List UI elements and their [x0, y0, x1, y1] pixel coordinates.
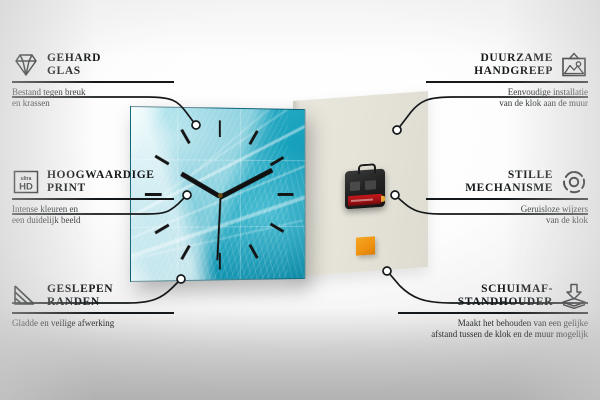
feature-underline [12, 312, 174, 314]
feature-title-line1: STILLE [465, 169, 553, 182]
product-infographic: GEHARD GLAS Bestand tegen breuk en krass… [0, 0, 600, 400]
gear-icon [560, 169, 588, 195]
feature-sub-line1: Geruisloze wijzers [426, 204, 588, 216]
feature-title-line1: HOOGWAARDIGE [47, 169, 155, 182]
feature-title-line2: PRINT [47, 182, 155, 195]
feature-sub-line1: Bestand tegen breuk [12, 87, 174, 99]
diamond-icon [12, 52, 40, 78]
feature-title-line1: SCHUIMAF- [458, 283, 553, 296]
spacer-stack-icon [560, 283, 588, 309]
hanger-bracket-icon [358, 163, 376, 174]
feature-sub-line1: Eenvoudige installatie [426, 87, 588, 99]
clock-hub [218, 193, 223, 198]
feature-sub-line2: van de klok aan de muur [426, 98, 588, 110]
clock-movement [345, 169, 385, 210]
beveled-edge-icon [12, 284, 40, 308]
foam-spacer [356, 236, 375, 255]
movement-slot-right [365, 180, 376, 190]
hour-marker-3 [278, 193, 294, 196]
feature-sub-line1: Intense kleuren en [12, 204, 174, 216]
feature-gehard-glas[interactable]: GEHARD GLAS Bestand tegen breuk en krass… [12, 52, 174, 110]
feature-hoogwaardige-print[interactable]: ultra HD HOOGWAARDIGE PRINT Intense kleu… [12, 169, 174, 227]
framed-picture-icon [560, 52, 588, 78]
feature-sub-line2: afstand tussen de klok en de muur mogeli… [398, 329, 588, 341]
feature-sub-line2: een duidelijk beeld [12, 215, 174, 227]
feature-title-line2: MECHANISME [465, 182, 553, 195]
hour-marker-6 [218, 253, 220, 270]
feature-title-line1: GESLEPEN [47, 283, 113, 296]
feature-geslepen-randen[interactable]: GESLEPEN RANDEN Gladde en veilige afwerk… [12, 283, 174, 329]
feature-title-line2: GLAS [47, 65, 101, 78]
feature-underline [12, 198, 174, 200]
feature-stille-mechanisme[interactable]: STILLE MECHANISME Geruisloze wijzers [426, 169, 588, 227]
hour-marker-12 [218, 120, 220, 137]
feature-title-line2: HANDGREEP [474, 65, 553, 78]
svg-text:HD: HD [19, 182, 33, 193]
feature-title-line2: RANDEN [47, 296, 113, 309]
feature-underline [426, 198, 588, 200]
feature-underline [398, 312, 588, 314]
feature-title-line1: DUURZAME [474, 52, 553, 65]
feature-sub-line1: Maakt het behouden van een gelijke [398, 318, 588, 330]
feature-sub-line2: en krassen [12, 98, 174, 110]
feature-schuimafstandhouder[interactable]: SCHUIMAF- STANDHOUDER Maakt het behouden… [398, 283, 588, 341]
feature-sub-line2: van de klok [426, 215, 588, 227]
feature-underline [426, 81, 588, 83]
ultra-hd-icon: ultra HD [12, 169, 40, 195]
feature-title-line1: GEHARD [47, 52, 101, 65]
feature-title-line2: STANDHOUDER [458, 296, 553, 309]
feature-sub-line1: Gladde en veilige afwerking [12, 318, 174, 330]
movement-slot-left [350, 181, 360, 191]
feature-underline [12, 81, 174, 83]
battery [348, 194, 382, 206]
feature-duurzame-handgreep[interactable]: DUURZAME HANDGREEP Eenvoudige installati… [426, 52, 588, 110]
